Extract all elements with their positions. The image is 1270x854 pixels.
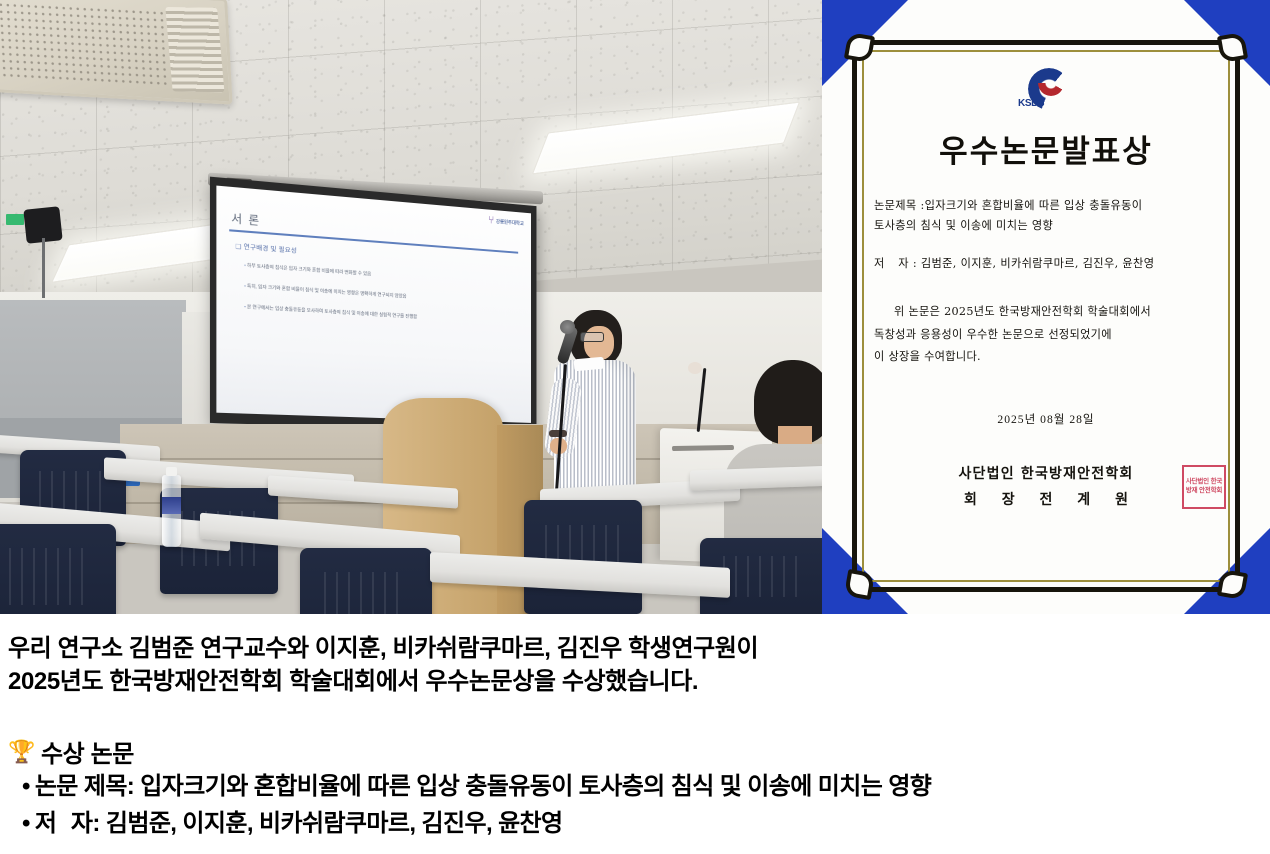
logo-mark-icon: ⑂ xyxy=(488,215,494,226)
slide-title: 서 론 xyxy=(231,210,260,229)
ksds-logo-icon: KSDS xyxy=(1018,68,1074,112)
presentation-photo: ⑂ 강릉원주대학교 서 론 ❑ 연구배경 및 필요성 하부 토사층의 침식은 입… xyxy=(0,0,822,614)
award-certificate-photo: KSDS 우수논문발표상 논문제목 :입자크기와 혼합비율에 따른 입상 충돌유… xyxy=(822,0,1270,614)
classroom-chair xyxy=(300,548,432,614)
intro-line-1: 우리 연구소 김범준 연구교수와 이지훈, 비카쉬람쿠마르, 김진우 학생연구원… xyxy=(8,632,1270,665)
authors-value: 김범준, 이지훈, 비카쉬람쿠마르, 김진우, 윤찬영 xyxy=(106,810,563,837)
certificate-body-line1: 위 논문은 2025년도 한국방재안전학회 학술대회에서 xyxy=(874,301,1218,323)
authors-label-a: 저 xyxy=(35,810,71,837)
slide-bullet: 본 연구에서는 입상 충돌유동을 모사하여 토사층의 침식 및 이송에 대한 실… xyxy=(244,304,516,326)
authors-bullet: •저자: 김범준, 이지훈, 비카쉬람쿠마르, 김진우, 윤찬영 xyxy=(8,806,1270,842)
certificate-authors: 저자 : 김범준, 이지훈, 비카쉬람쿠마르, 김진우, 윤찬영 xyxy=(874,255,1218,271)
certificate-paper-title-line2: 토사층의 침식 및 이송에 미치는 영향 xyxy=(874,217,1218,235)
paper-title-label: 논문 제목: xyxy=(35,773,134,800)
bullet-marker-icon: • xyxy=(22,810,30,837)
paper-title-bullet: •논문 제목: 입자크기와 혼합비율에 따른 입상 충돌유동이 토사층의 침식 … xyxy=(8,769,1270,805)
paper-label: 논문제목 : xyxy=(874,199,925,212)
intro-line-2: 2025년도 한국방재안전학회 학술대회에서 우수논문상을 수상했습니다. xyxy=(8,665,1270,698)
certificate-content: KSDS 우수논문발표상 논문제목 :입자크기와 혼합비율에 따른 입상 충돌유… xyxy=(874,60,1218,574)
presentation-slide: ⑂ 강릉원주대학교 서 론 ❑ 연구배경 및 필요성 하부 토사층의 침식은 입… xyxy=(216,186,531,423)
certificate-body-line3: 이 상장을 수여합니다. xyxy=(874,346,1218,368)
certificate-body-line2: 독창성과 응용성이 우수한 논문으로 선정되었기에 xyxy=(874,324,1218,346)
microphone-grille-icon xyxy=(560,320,575,334)
certificate-title: 우수논문발표상 xyxy=(874,126,1218,171)
exit-sign-icon xyxy=(6,214,24,225)
glasses-icon xyxy=(580,332,604,342)
photo-strip: ⑂ 강릉원주대학교 서 론 ❑ 연구배경 및 필요성 하부 토사층의 침식은 입… xyxy=(0,0,1270,614)
official-seal-icon: 사단법인 한국방재 안전학회 xyxy=(1182,465,1226,509)
projector-screen: ⑂ 강릉원주대학교 서 론 ❑ 연구배경 및 필요성 하부 토사층의 침식은 입… xyxy=(210,177,537,433)
award-section-heading: 🏆 수상 논문 xyxy=(8,734,1270,769)
certificate-chair: 회 장 전 계 원 xyxy=(874,489,1218,509)
air-conditioner-icon xyxy=(0,0,233,105)
certificate-paper-title-line1: 논문제목 :입자크기와 혼합비율에 따른 입상 충돌유동이 xyxy=(874,197,1218,215)
slide-subhead: ❑ 연구배경 및 필요성 xyxy=(236,241,297,255)
certificate-organization: 사단법인 한국방재안전학회 xyxy=(874,463,1218,483)
microphone-head-icon xyxy=(688,362,702,374)
authors-label2: 자 : xyxy=(898,257,917,270)
certificate-body: 위 논문은 2025년도 한국방재안전학회 학술대회에서 독창성과 응용성이 우… xyxy=(874,301,1218,368)
slide-subhead-label: 연구배경 및 필요성 xyxy=(244,244,297,255)
paper-title-value: 입자크기와 혼합비율에 따른 입상 충돌유동이 토사층의 침식 및 이송에 미치… xyxy=(140,773,931,800)
classroom-chair xyxy=(0,524,116,614)
award-section-title: 수상 논문 xyxy=(41,734,134,769)
authors-label: 저 xyxy=(874,257,898,270)
slide-bullet: 특히, 입자 크기와 혼합 비율이 침식 및 이송에 미치는 영향은 명확하게 … xyxy=(244,283,516,306)
caption-block: 우리 연구소 김범준 연구교수와 이지훈, 비카쉬람쿠마르, 김진우 학생연구원… xyxy=(0,614,1270,854)
bullet-marker-icon: • xyxy=(22,773,30,800)
paper-title-1: 입자크기와 혼합비율에 따른 입상 충돌유동이 xyxy=(925,199,1143,212)
authors-label-b: 자: xyxy=(71,810,100,837)
university-logo-label: 강릉원주대학교 xyxy=(496,218,524,227)
authors-value: 김범준, 이지훈, 비카쉬람쿠마르, 김진우, 윤찬영 xyxy=(921,257,1154,270)
ksds-logo-label: KSDS xyxy=(1018,98,1044,109)
university-logo: ⑂ 강릉원주대학교 xyxy=(488,215,524,229)
caption-spacer xyxy=(8,698,1270,728)
slide-bullet: 하부 토사층의 침식은 입자 크기와 혼합 비율에 따라 변화할 수 있음 xyxy=(244,263,516,287)
certificate-signature: 사단법인 한국방재안전학회 회 장 전 계 원 사단법인 한국방재 안전학회 xyxy=(874,463,1218,509)
slide-subhead-marker-icon: ❑ xyxy=(236,243,242,251)
certificate-date: 2025년 08월 28일 xyxy=(874,411,1218,427)
trophy-icon: 🏆 xyxy=(8,741,35,763)
water-bottle xyxy=(162,475,181,547)
ksds-swirl-red xyxy=(1038,70,1064,96)
speaker-pole xyxy=(42,238,45,298)
